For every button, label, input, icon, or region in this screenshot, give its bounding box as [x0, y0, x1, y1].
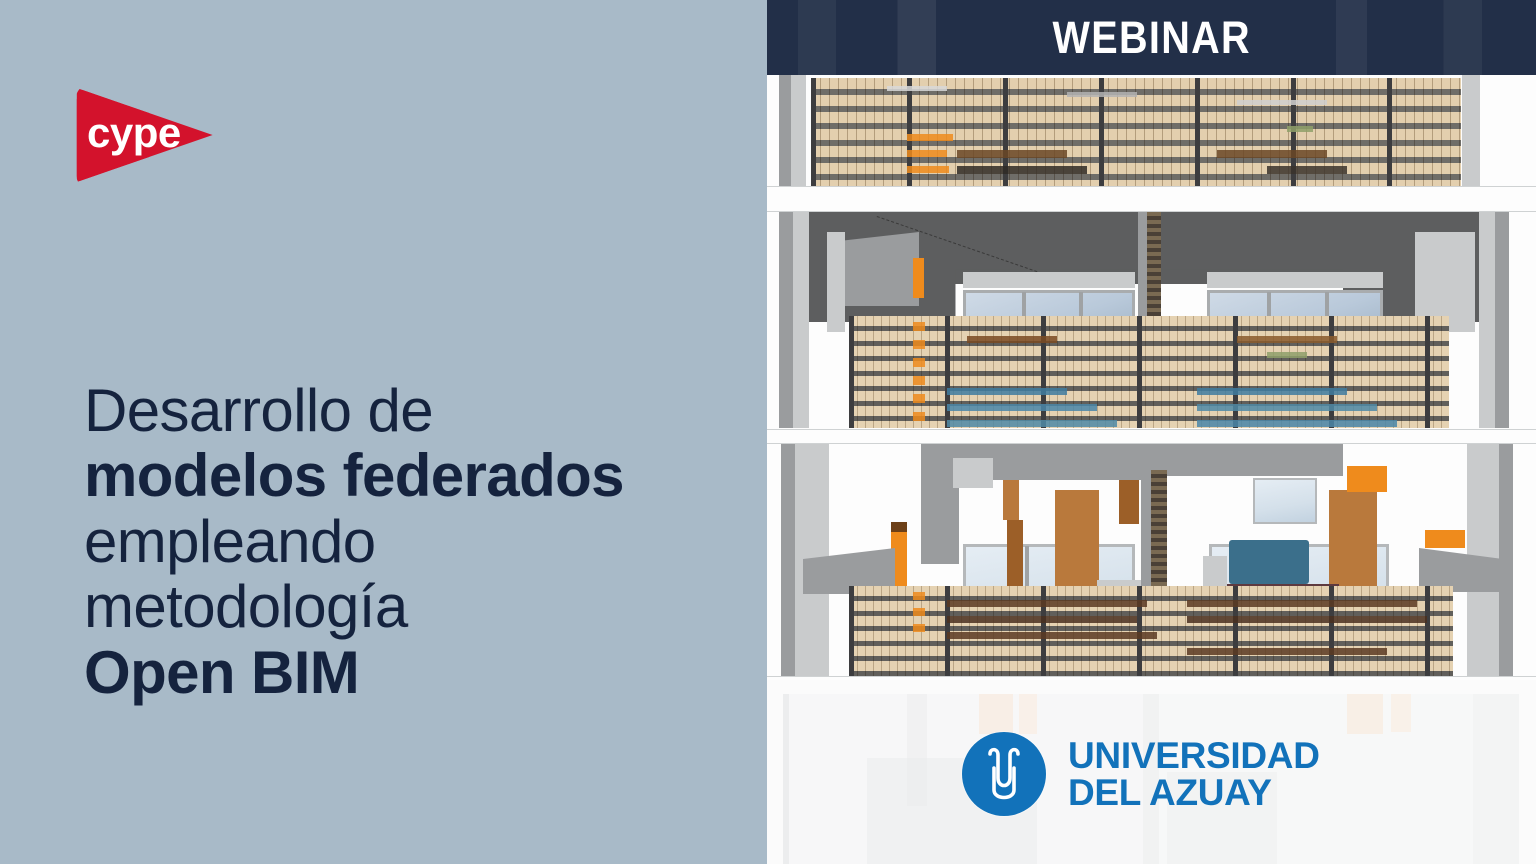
uda-monogram-icon: [962, 732, 1046, 816]
uda-line-2: DEL AZUAY: [1068, 774, 1320, 811]
title-line-3: empleando: [84, 509, 704, 574]
page-title: Desarrollo de modelos federados empleand…: [84, 378, 704, 705]
webinar-label: WEBINAR: [1052, 15, 1250, 60]
cype-wordmark: cype: [87, 112, 181, 154]
building-render-panel: WEBINAR UNIVERSIDAD DEL AZUAY: [767, 0, 1536, 864]
cype-logo: cype: [74, 79, 214, 191]
uda-wordmark: UNIVERSIDAD DEL AZUAY: [1068, 737, 1320, 811]
title-line-5: Open BIM: [84, 640, 704, 705]
left-content-panel: cype Desarrollo de modelos federados emp…: [0, 0, 767, 864]
webinar-slide: cype Desarrollo de modelos federados emp…: [0, 0, 1536, 864]
universidad-del-azuay-logo: UNIVERSIDAD DEL AZUAY: [962, 732, 1320, 816]
uda-line-1: UNIVERSIDAD: [1068, 735, 1320, 776]
webinar-banner: WEBINAR: [767, 0, 1536, 75]
title-line-2: modelos federados: [84, 443, 704, 508]
title-line-4: metodología: [84, 574, 704, 639]
title-line-1: Desarrollo de: [84, 378, 704, 443]
